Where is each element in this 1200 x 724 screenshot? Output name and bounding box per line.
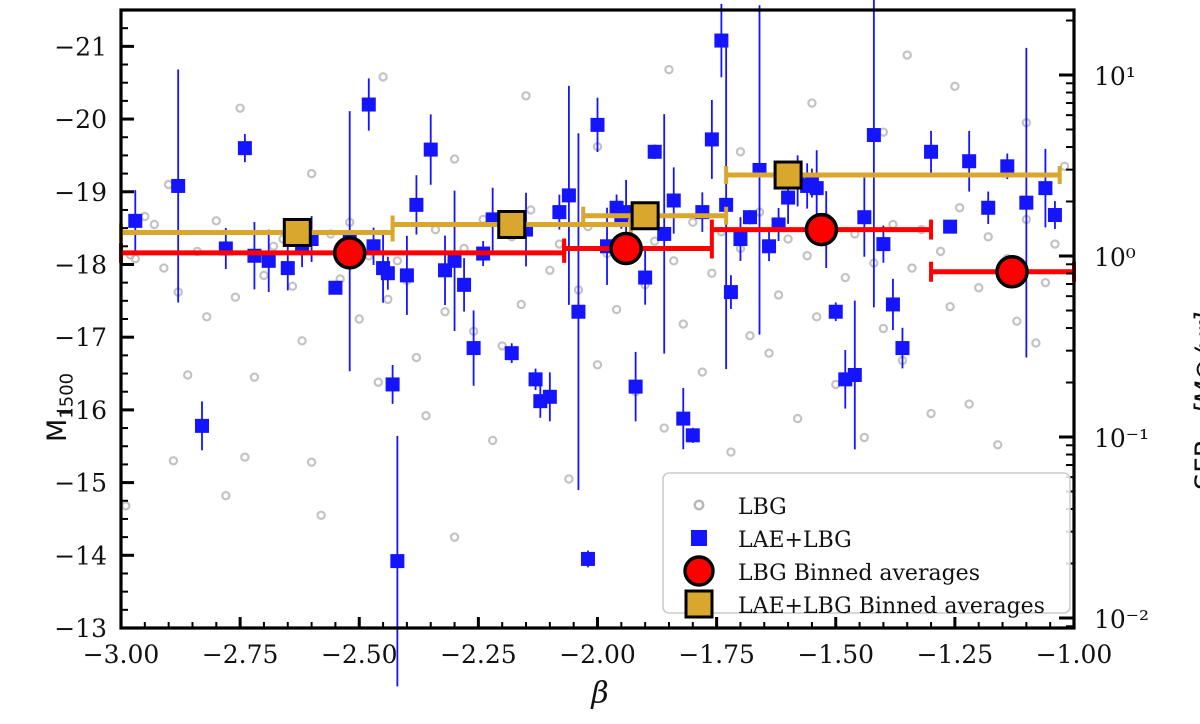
lae-lbg-point (543, 390, 557, 404)
lae-lbg-point (667, 193, 681, 207)
y-right-label-main: SFR (1190, 439, 1200, 490)
lae-lbg-point (362, 98, 376, 112)
x-tick-label: −1.50 (797, 640, 874, 669)
lae-lbg-point (424, 143, 438, 157)
x-tick-label: −2.50 (321, 640, 398, 669)
lbg-binned-marker[interactable] (997, 257, 1027, 287)
lae-lbg-point (262, 254, 276, 268)
lae-lbg-point (552, 205, 566, 219)
figure-container: −3.00−2.75−2.50−2.25−2.00−1.75−1.50−1.25… (0, 0, 1200, 724)
y-left-label-sub: 1500 (56, 373, 77, 419)
scatter-plot: −3.00−2.75−2.50−2.25−2.00−1.75−1.50−1.25… (0, 0, 1200, 724)
y-right-tick-label: 10⁰ (1094, 243, 1136, 272)
lae-lbg-point (867, 128, 881, 142)
y-tick-label: −17 (54, 323, 107, 352)
lae-lbg-point (400, 268, 414, 282)
legend-label: LAE+LBG Binned averages (738, 594, 1045, 619)
lae-lbg-point (943, 220, 957, 234)
x-tick-label: −1.75 (678, 640, 755, 669)
x-tick-label: −2.75 (202, 640, 279, 669)
x-tick-label: −2.25 (440, 640, 517, 669)
lae-lbg-point (686, 428, 700, 442)
x-tick-label: −1.25 (917, 640, 994, 669)
lae-lbg-point (638, 271, 652, 285)
lae-lbg-point (724, 285, 738, 299)
lae-lbg-point (390, 554, 404, 568)
lae-lbg-point (448, 254, 462, 268)
x-axis-label-text: β (591, 676, 608, 711)
lae-lbg-point (781, 191, 795, 205)
y-tick-label: −13 (54, 614, 107, 643)
lae-lbg-point (328, 281, 342, 295)
x-tick-label: −3.00 (83, 640, 160, 669)
y-right-label-unit: [M⊙/yr] (1190, 311, 1200, 414)
lae-lbg-point (895, 341, 909, 355)
y-tick-label: −20 (54, 105, 107, 134)
lae-lbg-point (281, 261, 295, 275)
lae-lbg-point (762, 239, 776, 253)
lae-lbg-point (981, 201, 995, 215)
lae-lbg-point (743, 210, 757, 224)
lae-lbg-point (128, 214, 142, 228)
y-axis-label-right: SFRUV[M⊙/yr] (1152, 200, 1196, 490)
lae-lbg-point (571, 305, 585, 319)
lae-lbg-point (529, 372, 543, 386)
legend-marker-lbg-binned (685, 557, 713, 585)
lae-lbg-point (1048, 208, 1062, 222)
lae-lbg-point (171, 179, 185, 193)
lae-lbg-point (676, 412, 690, 426)
lae-lbg-point (962, 154, 976, 168)
lae-lbg-binned-marker[interactable] (775, 162, 801, 188)
y-left-label-main: M (42, 419, 73, 442)
lae-lbg-point (1019, 196, 1033, 210)
y-axis-label-left: M1500 (8, 282, 48, 442)
lae-lbg-point (876, 237, 890, 251)
y-tick-label: −18 (54, 250, 107, 279)
lae-lbg-point (810, 181, 824, 195)
lae-lbg-point (505, 346, 519, 360)
legend-marker-lae-lbg-binned (686, 591, 712, 617)
legend-label: LBG (738, 495, 787, 520)
lae-lbg-point (238, 141, 252, 155)
legend-label: LAE+LBG (738, 528, 852, 553)
lbg-binned-marker[interactable] (806, 215, 836, 245)
y-tick-label: −14 (54, 541, 107, 570)
lae-lbg-point (1000, 159, 1014, 173)
lae-lbg-point (386, 377, 400, 391)
lae-lbg-point (409, 198, 423, 212)
y-right-tick-label: 10⁻¹ (1094, 424, 1149, 453)
x-tick-label: −1.00 (1036, 640, 1113, 669)
x-tick-label: −2.00 (559, 640, 636, 669)
lbg-binned-marker[interactable] (335, 238, 365, 268)
y-tick-label: −15 (54, 469, 107, 498)
x-axis-label: β (0, 676, 1200, 711)
lae-lbg-point (924, 145, 938, 159)
lae-lbg-point (581, 552, 595, 566)
lae-lbg-point (457, 278, 471, 292)
lae-lbg-point (195, 419, 209, 433)
lae-lbg-point (562, 188, 576, 202)
lae-lbg-point (381, 266, 395, 280)
lae-lbg-binned-marker[interactable] (499, 211, 525, 237)
legend[interactable]: LBGLAE+LBGLBG Binned averagesLAE+LBG Bin… (663, 473, 1070, 619)
lae-lbg-point (733, 232, 747, 246)
lae-lbg-binned-marker[interactable] (284, 219, 310, 245)
lae-lbg-point (629, 380, 643, 394)
lae-lbg-point (591, 118, 605, 132)
lae-lbg-point (857, 210, 871, 224)
y-tick-label: −21 (54, 32, 107, 61)
lae-lbg-point (886, 297, 900, 311)
lae-lbg-point (829, 305, 843, 319)
lae-lbg-point (467, 341, 481, 355)
legend-box[interactable] (663, 473, 1070, 613)
y-tick-label: −19 (54, 178, 107, 207)
legend-marker-lae-lbg (691, 530, 707, 546)
y-right-tick-label: 10⁻² (1094, 605, 1149, 634)
lbg-binned-marker[interactable] (611, 233, 641, 263)
lae-lbg-point (848, 368, 862, 382)
lae-lbg-binned-marker[interactable] (632, 203, 658, 229)
lae-lbg-point (1038, 181, 1052, 195)
lae-lbg-point (648, 145, 662, 159)
y-right-tick-label: 10¹ (1094, 62, 1136, 91)
legend-label: LBG Binned averages (738, 561, 980, 586)
lae-lbg-point (705, 132, 719, 146)
